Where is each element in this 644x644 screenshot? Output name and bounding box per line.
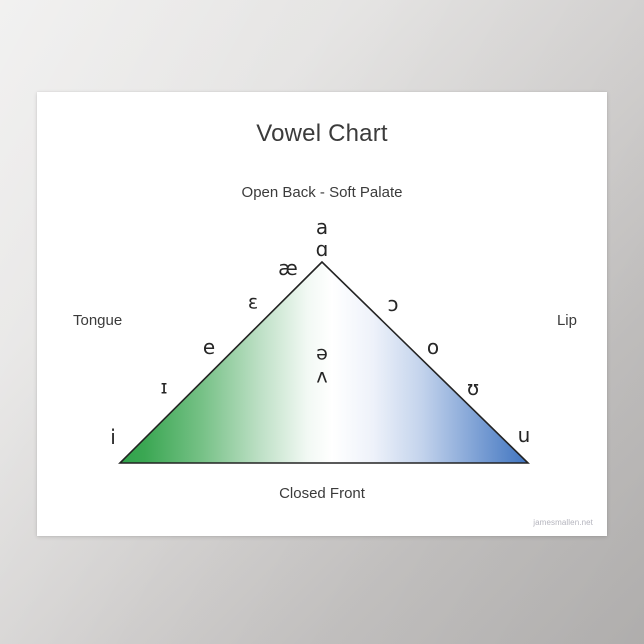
vowel-mid-central-schwa: ə — [316, 345, 328, 364]
vowel-near-close-near-back-rounded: ʊ — [467, 378, 479, 398]
vowel-close-front-unrounded: i — [110, 427, 116, 447]
vowel-near-close-near-front-unrounded: ɪ — [160, 379, 167, 398]
vowel-triangle — [37, 92, 607, 536]
vowel-chart-poster: Vowel Chart Open Back - Soft Palate Tong… — [37, 92, 607, 536]
vowel-open-mid-back-unrounded: ʌ — [316, 368, 327, 387]
vowel-open-mid-back-rounded: ɔ — [388, 294, 399, 314]
vowel-close-back-rounded: u — [518, 425, 531, 445]
screenshot-canvas: Vowel Chart Open Back - Soft Palate Tong… — [0, 0, 644, 644]
vowel-open-front-unrounded: a — [316, 217, 328, 237]
vowel-near-open-front-unrounded: æ — [278, 258, 298, 278]
vowel-triangle-svg — [37, 92, 607, 536]
vowel-close-mid-back-rounded: o — [427, 337, 439, 357]
vowel-close-mid-front-unrounded: e — [203, 337, 215, 357]
watermark: jamesmallen.net — [533, 518, 593, 527]
vowel-open-mid-front-unrounded: ɛ — [248, 294, 258, 313]
vowel-open-back-unrounded: ɑ — [316, 239, 329, 259]
